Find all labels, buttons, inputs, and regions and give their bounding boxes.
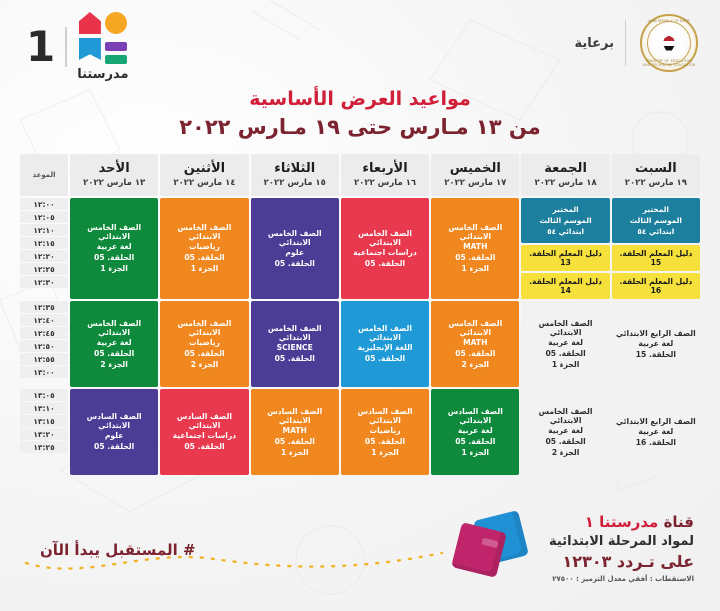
day-date: ١٤ مارس ٢٠٢٢ [162,178,246,188]
cell-part: الجزء 1 [434,447,516,458]
day-header-thursday: الخميس ١٧ مارس ٢٠٢٢ [431,154,519,196]
time-column-block-2: ١٢:٣٥١٢:٤٠١٢:٤٥١٢:٥٠١٢:٥٥١٣:٠٠ [20,301,68,387]
day-header-friday: الجمعة ١٨ مارس ٢٠٢٢ [521,154,609,196]
cell-friday-row1[interactable]: المختبر الموسم الثالث ابتدائي ٥٤ دليل ال… [521,198,609,299]
schedule-body: المختبر الموسم الثالث ابتدائي ٥٤ دليل ال… [20,198,700,475]
day-name: السبت [614,161,698,176]
flag-shape-icon [79,38,101,60]
time-slot: ١٢:٥٠ [20,340,68,352]
cell-grade: الصف السادس الابتدائي [163,412,245,430]
header-divider [625,20,626,66]
egypt-ministry-crest: ARAB REPUBLIC OF EGYPT MINISTRY OF EDUCA… [640,14,698,72]
channel-name-line: قناة مدرستنا ١ [549,513,694,531]
time-slot: ١٢:٢٠ [20,250,68,262]
title-block: مواعيد العرض الأساسية من ١٣ مـارس حتى ١٩… [0,88,720,139]
cell-part: الجزء 2 [73,359,155,370]
cell-sunday-row1[interactable]: الصف الخامس الابتدائي لغة عربية الحلقة. … [70,198,158,299]
cell-part: الجزء 2 [434,359,516,370]
schedule-table-wrapper: السبت ١٩ مارس ٢٠٢٢ الجمعة ١٨ مارس ٢٠٢٢ ا… [18,152,702,477]
cell-part: الجزء 2 [524,447,606,458]
cell-friday-row2[interactable]: الصف الخامس الابتدائي لغة عربية الحلقة. … [521,301,609,387]
cell-part: الجزء 1 [434,263,516,274]
cell-subject: لغة عربية [73,337,155,348]
cell-episode: الحلقة. 15 [615,349,697,360]
cell-part: الجزء 2 [163,359,245,370]
lab-line-1: المختبر [523,204,607,215]
table-header-row: السبت ١٩ مارس ٢٠٢٢ الجمعة ١٨ مارس ٢٠٢٢ ا… [20,154,700,196]
cell-friday-row3[interactable]: الصف الخامس الابتدائي لغة عربية الحلقة. … [521,389,609,475]
channel-brand: مدرستنا 1 [26,12,129,82]
cell-subject: SCIENCE [254,342,336,353]
cell-grade: الصف الخامس الابتدائي [524,319,606,337]
time-slot: ١٢:٥٥ [20,353,68,365]
day-date: ١٦ مارس ٢٠٢٢ [343,178,427,188]
channel-frequency: على تـردد ١٢٣٠٣ [549,552,694,571]
sponsor-label: برعاية [575,36,615,51]
day-date: ١٩ مارس ٢٠٢٢ [614,178,698,188]
eagle-icon [663,36,676,51]
cell-part: الجزء 1 [524,359,606,370]
lab-line-3: ابتدائي ٥٤ [614,226,698,237]
table-row: المختبر الموسم الثالث ابتدائي ٥٤ دليل ال… [20,198,700,299]
day-header-wednesday: الأربعاء ١٦ مارس ٢٠٢٢ [341,154,429,196]
time-slot: ١٢:٠٥ [20,211,68,223]
cell-grade: الصف الخامس الابتدائي [434,319,516,337]
cell-saturday-row3[interactable]: الصف الرابع الابتدائي لغة عربية الحلقة. … [612,389,700,475]
bars-shape-icon [105,38,127,64]
cell-episode: الحلقة. 05 [163,348,245,359]
cell-subject: لغة عربية [73,241,155,252]
cell-grade: الصف الخامس الابتدائي [344,324,426,342]
cell-thursday-row2[interactable]: الصف الخامس الابتدائي MATH الحلقة. 05 ال… [431,301,519,387]
cell-saturday-row1[interactable]: المختبر الموسم الثالث ابتدائي ٥٤ دليل ال… [612,198,700,299]
cell-grade: الصف الخامس الابتدائي [254,229,336,247]
cell-subject: دراسات اجتماعية [163,430,245,441]
cell-grade: الصف الخامس الابتدائي [163,223,245,241]
table-row: الصف الرابع الابتدائي لغة عربية الحلقة. … [20,301,700,387]
cell-grade: الصف السادس الابتدائي [73,412,155,430]
poster-header: ARAB REPUBLIC OF EGYPT MINISTRY OF EDUCA… [0,0,720,86]
pink-book-icon [451,522,507,578]
cell-grade: الصف الرابع الابتدائي [615,417,697,426]
cell-subject: لغة عربية [434,425,516,436]
cell-saturday-row2[interactable]: الصف الرابع الابتدائي لغة عربية الحلقة. … [612,301,700,387]
cell-episode: الحلقة. 05 [524,348,606,359]
cell-tuesday-row1[interactable]: الصف الخامس الابتدائي علوم الحلقة. 05 [251,198,339,299]
time-slot: ١٣:٠٠ [20,366,68,378]
cell-episode: الحلقة. 05 [524,436,606,447]
cell-episode: الحلقة. 05 [434,252,516,263]
day-header-saturday: السبت ١٩ مارس ٢٠٢٢ [612,154,700,196]
poster-root: ARAB REPUBLIC OF EGYPT MINISTRY OF EDUCA… [0,0,720,611]
day-name: الأحد [72,161,156,176]
cell-episode: الحلقة. 05 [254,258,336,269]
day-date: ١٨ مارس ٢٠٢٢ [523,178,607,188]
cell-grade: الصف السادس الابتدائي [254,407,336,425]
day-date: ١٧ مارس ٢٠٢٢ [433,178,517,188]
cell-thursday-row3[interactable]: الصف السادس الابتدائي لغة عربية الحلقة. … [431,389,519,475]
day-header-monday: الأثنين ١٤ مارس ٢٠٢٢ [160,154,248,196]
day-date: ١٣ مارس ٢٠٢٢ [72,178,156,188]
cell-monday-row3[interactable]: الصف السادس الابتدائي دراسات اجتماعية ال… [160,389,248,475]
cell-episode: الحلقة. 05 [344,436,426,447]
cell-tuesday-row3[interactable]: الصف السادس الابتدائي MATH الحلقة. 05 ال… [251,389,339,475]
time-slot: ١٢:٣٥ [20,301,68,313]
channel-technical-info: الاستقطاب : أفقي معدل الترميز : ٢٧٥٠٠ [549,575,694,583]
table-row: الصف الرابع الابتدائي لغة عربية الحلقة. … [20,389,700,475]
time-slot: ١٣:٢٥ [20,441,68,453]
channel-audience: لمواد المرحلة الابتدائية [549,534,694,549]
cell-grade: الصف الخامس الابتدائي [344,229,426,247]
time-slot: ١٢:٣٠ [20,276,68,288]
cell-part: الجزء 1 [163,263,245,274]
teacher-guide-1: دليل المعلم الحلقة. 13 [521,245,609,271]
channel-info: قناة مدرستنا ١ لمواد المرحلة الابتدائية … [549,513,694,583]
cell-monday-row1[interactable]: الصف الخامس الابتدائي رياضيات الحلقة. 05… [160,198,248,299]
time-slot: ١٢:٠٠ [20,198,68,210]
time-slot: ١٣:٠٥ [20,389,68,401]
time-slot: ١٢:٤٥ [20,327,68,339]
time-slot: ١٢:١٥ [20,237,68,249]
lab-line-2: الموسم الثالث [614,215,698,226]
teacher-guide-1: دليل المعلم الحلقة. 15 [612,245,700,271]
day-name: الخميس [433,161,517,176]
cell-episode: الحلقة. 05 [254,353,336,364]
cell-episode: الحلقة. 05 [434,436,516,447]
time-slot-list: ١٣:٠٥١٣:١٠١٣:١٥١٣:٢٠١٣:٢٥ [20,389,68,453]
cell-wednesday-row1[interactable]: الصف الخامس الابتدائي دراسات اجتماعية ال… [341,198,429,299]
cell-subject: MATH [254,425,336,436]
cell-subject: اللغة الإنجليزية [344,342,426,353]
time-slot-list: ١٢:٠٠١٢:٠٥١٢:١٠١٢:١٥١٢:٢٠١٢:٢٥١٢:٣٠ [20,198,68,288]
cell-thursday-row1[interactable]: الصف الخامس الابتدائي MATH الحلقة. 05 ال… [431,198,519,299]
circle-shape-icon [105,12,127,34]
cell-subject: لغة عربية [615,426,697,437]
cell-subject: علوم [73,430,155,441]
cell-subject: لغة عربية [524,337,606,348]
cell-episode: الحلقة. 05 [73,441,155,452]
cell-episode: الحلقة. 05 [344,258,426,269]
cell-subject: رياضيات [163,337,245,348]
cell-part: الجزء 1 [73,263,155,274]
cell-subject: دراسات اجتماعية [344,247,426,258]
cell-wednesday-row2[interactable]: الصف الخامس الابتدائي اللغة الإنجليزية ا… [341,301,429,387]
day-name: الأثنين [162,161,246,176]
cell-subject: لغة عربية [524,425,606,436]
cell-subject: علوم [254,247,336,258]
cell-episode: الحلقة. 05 [163,252,245,263]
lab-line-3: ابتدائي ٥٤ [523,226,607,237]
page-title: مواعيد العرض الأساسية [0,88,720,110]
cell-grade: الصف الخامس الابتدائي [434,223,516,241]
cell-subject: لغة عربية [615,338,697,349]
lab-block: المختبر الموسم الثالث ابتدائي ٥٤ [521,198,609,243]
madrasatna-logo: مدرستنا [77,12,128,82]
day-name: الأربعاء [343,161,427,176]
time-column-block-1: ١٢:٠٠١٢:٠٥١٢:١٠١٢:١٥١٢:٢٠١٢:٢٥١٢:٣٠ [20,198,68,299]
cell-subject: رياضيات [344,425,426,436]
lab-block: المختبر الموسم الثالث ابتدائي ٥٤ [612,198,700,243]
green-bar-icon [105,55,127,64]
books-illustration [452,513,538,579]
cell-sunday-row2[interactable]: الصف الخامس الابتدائي لغة عربية الحلقة. … [70,301,158,387]
house-shape-icon [79,12,101,34]
time-slot: ١٢:١٠ [20,224,68,236]
channel-accent: مدرستنا ١ [585,513,659,531]
cell-wednesday-row3[interactable]: الصف السادس الابتدائي رياضيات الحلقة. 05… [341,389,429,475]
time-slot: ١٢:٢٥ [20,263,68,275]
day-name: الجمعة [523,161,607,176]
time-slot: ١٣:١٥ [20,415,68,427]
time-column-block-3: ١٣:٠٥١٣:١٠١٣:١٥١٣:٢٠١٣:٢٥ [20,389,68,475]
brand-separator [65,27,67,67]
cell-grade: الصف السادس الابتدائي [434,407,516,425]
poster-footer: # المستقبل يبدأ الآن قناة مدرستنا ١ لموا… [0,501,720,611]
cell-episode: الحلقة. 16 [615,437,697,448]
cell-monday-row2[interactable]: الصف الخامس الابتدائي رياضيات الحلقة. 05… [160,301,248,387]
cell-grade: الصف الخامس الابتدائي [73,319,155,337]
brand-name: مدرستنا [77,67,128,82]
purple-bar-icon [105,42,127,51]
cell-subject: MATH [434,337,516,348]
cell-episode: الحلقة. 05 [254,436,336,447]
cell-episode: الحلقة. 05 [163,441,245,452]
hashtag-slogan: # المستقبل يبدأ الآن [40,541,196,559]
day-name: الثلاثاء [253,161,337,176]
cell-subject: MATH [434,241,516,252]
date-range-subtitle: من ١٣ مـارس حتى ١٩ مـارس ٢٠٢٢ [0,115,720,139]
crest-bottom-text: MINISTRY OF EDUCATION AND TECHNICAL EDUC… [642,59,696,67]
crest-top-text: ARAB REPUBLIC OF EGYPT [642,19,696,23]
cell-tuesday-row2[interactable]: الصف الخامس الابتدائي SCIENCE الحلقة. 05 [251,301,339,387]
time-slot: ١٣:٢٠ [20,428,68,440]
cell-subject: رياضيات [163,241,245,252]
time-column-header: الموعد [20,154,68,196]
cell-sunday-row3[interactable]: الصف السادس الابتدائي علوم الحلقة. 05 [70,389,158,475]
day-date: ١٥ مارس ٢٠٢٢ [253,178,337,188]
lab-line-2: الموسم الثالث [523,215,607,226]
time-slot: ١٢:٤٠ [20,314,68,326]
cell-episode: الحلقة. 05 [73,348,155,359]
teacher-guide-2: دليل المعلم الحلقة. 14 [521,273,609,299]
cell-grade: الصف الخامس الابتدائي [254,324,336,342]
cell-grade: الصف السادس الابتدائي [344,407,426,425]
cell-grade: الصف الخامس الابتدائي [163,319,245,337]
cell-grade: الصف الخامس الابتدائي [73,223,155,241]
day-header-sunday: الأحد ١٣ مارس ٢٠٢٢ [70,154,158,196]
channel-prefix: قناة [658,513,694,531]
channel-number: 1 [26,26,55,68]
time-slot: ١٣:١٠ [20,402,68,414]
cell-episode: الحلقة. 05 [434,348,516,359]
time-slot-list: ١٢:٣٥١٢:٤٠١٢:٤٥١٢:٥٠١٢:٥٥١٣:٠٠ [20,301,68,378]
day-header-tuesday: الثلاثاء ١٥ مارس ٢٠٢٢ [251,154,339,196]
cell-grade: الصف الخامس الابتدائي [524,407,606,425]
teacher-guide-2: دليل المعلم الحلقة. 16 [612,273,700,299]
cell-part: الجزء 1 [254,447,336,458]
cell-episode: الحلقة. 05 [344,353,426,364]
lab-line-1: المختبر [614,204,698,215]
cell-part: الجزء 1 [344,447,426,458]
schedule-table: السبت ١٩ مارس ٢٠٢٢ الجمعة ١٨ مارس ٢٠٢٢ ا… [18,152,702,477]
cell-episode: الحلقة. 05 [73,252,155,263]
cell-grade: الصف الرابع الابتدائي [615,329,697,338]
